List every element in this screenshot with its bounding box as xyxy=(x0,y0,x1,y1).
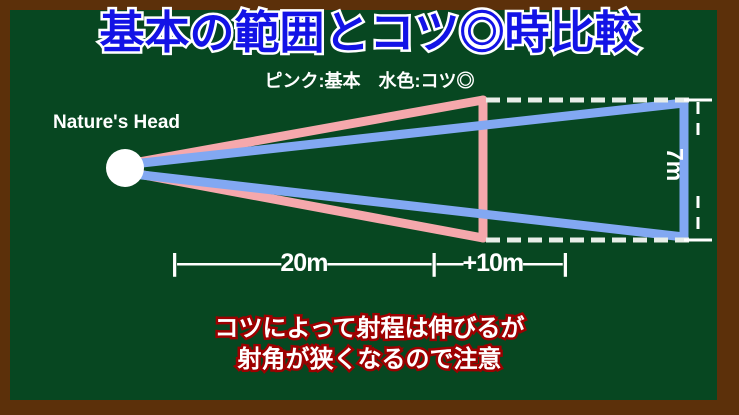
horizontal-scale-bar: |‒‒‒‒‒‒‒‒20m‒‒‒‒‒‒‒‒|‒‒+10m‒‒‒| xyxy=(0,249,739,278)
page-title: 基本の範囲とコツ◎時比較 xyxy=(0,8,739,58)
vertical-measure-label: 7m xyxy=(661,148,688,181)
origin-label: Nature's Head xyxy=(53,112,180,134)
origin-circle-marker xyxy=(106,149,144,187)
caption-line-2: 射角が狭くなるので注意 xyxy=(0,344,739,375)
blue-cone-technique xyxy=(133,103,684,237)
screenshot-root: 基本の範囲とコツ◎時比較 ピンク:基本 水色:コツ◎ Nature's Head… xyxy=(0,0,739,415)
caption-line-1: コツによって射程は伸びるが xyxy=(0,313,739,344)
pink-cone-basic xyxy=(133,100,483,238)
legend-subtitle: ピンク:基本 水色:コツ◎ xyxy=(0,67,739,93)
bottom-caption: コツによって射程は伸びるが 射角が狭くなるので注意 xyxy=(0,313,739,375)
